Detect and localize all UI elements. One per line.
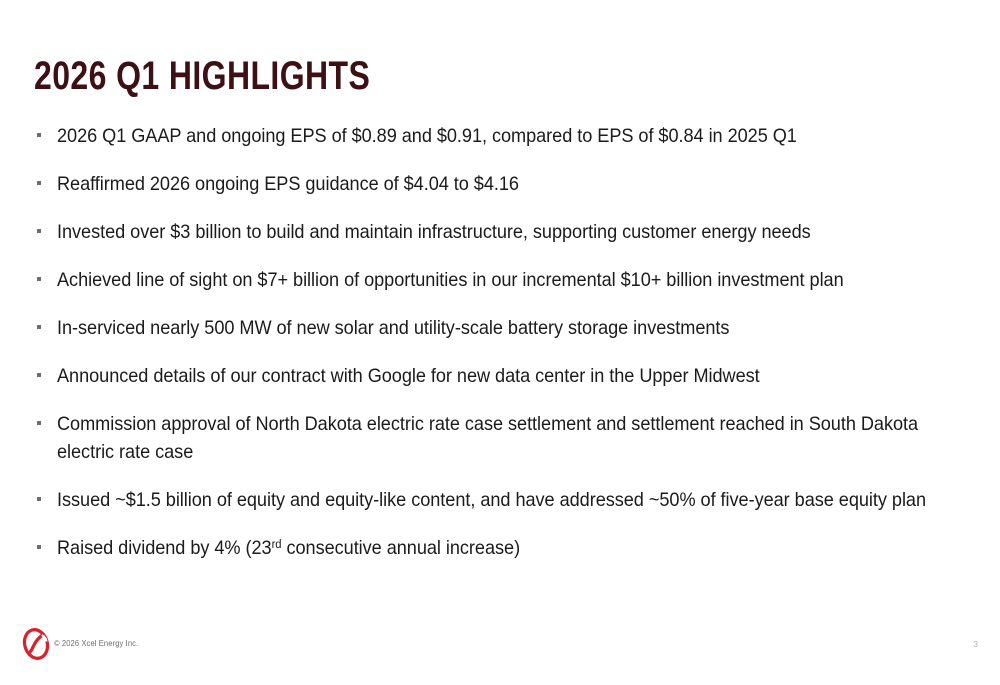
list-item-text: Commission approval of North Dakota elec… bbox=[57, 410, 944, 466]
list-item: Reaffirmed 2026 ongoing EPS guidance of … bbox=[34, 170, 944, 198]
copyright-text: © 2026 Xcel Energy Inc. bbox=[54, 639, 138, 648]
list-item-text: Issued ~$1.5 billion of equity and equit… bbox=[57, 486, 944, 514]
list-item: Commission approval of North Dakota elec… bbox=[34, 410, 944, 466]
list-item: Issued ~$1.5 billion of equity and equit… bbox=[34, 486, 944, 514]
list-item-text-post: consecutive annual increase) bbox=[281, 537, 520, 559]
list-item: Invested over $3 billion to build and ma… bbox=[34, 218, 944, 246]
ordinal-suffix: rd bbox=[272, 537, 282, 551]
bullet-marker-icon bbox=[37, 133, 41, 137]
presentation-slide: 2026 Q1 HIGHLIGHTS 2026 Q1 GAAP and ongo… bbox=[0, 0, 1000, 685]
page-title: 2026 Q1 HIGHLIGHTS bbox=[34, 53, 370, 99]
slide-footer: © 2026 Xcel Energy Inc. 3 bbox=[0, 623, 1000, 685]
bullet-marker-icon bbox=[37, 421, 41, 425]
list-item: In-serviced nearly 500 MW of new solar a… bbox=[34, 314, 944, 342]
list-item: Raised dividend by 4% (23rd consecutive … bbox=[34, 534, 944, 562]
bullet-marker-icon bbox=[37, 325, 41, 329]
list-item-text: In-serviced nearly 500 MW of new solar a… bbox=[57, 314, 944, 342]
list-item-text: Raised dividend by 4% (23rd consecutive … bbox=[57, 534, 944, 562]
bullet-marker-icon bbox=[37, 181, 41, 185]
bullet-marker-icon bbox=[37, 545, 41, 549]
page-number: 3 bbox=[973, 639, 978, 649]
xcel-energy-swirl-logo-icon bbox=[22, 628, 50, 660]
bullet-marker-icon bbox=[37, 373, 41, 377]
bullet-marker-icon bbox=[37, 497, 41, 501]
list-item-text: 2026 Q1 GAAP and ongoing EPS of $0.89 an… bbox=[57, 122, 944, 150]
bullet-marker-icon bbox=[37, 229, 41, 233]
list-item: Announced details of our contract with G… bbox=[34, 362, 944, 390]
list-item-text-pre: Raised dividend by 4% (23 bbox=[57, 537, 272, 559]
list-item-text: Invested over $3 billion to build and ma… bbox=[57, 218, 944, 246]
bullet-marker-icon bbox=[37, 277, 41, 281]
list-item-text: Achieved line of sight on $7+ billion of… bbox=[57, 266, 944, 294]
list-item: Achieved line of sight on $7+ billion of… bbox=[34, 266, 944, 294]
highlights-bullet-list: 2026 Q1 GAAP and ongoing EPS of $0.89 an… bbox=[34, 122, 944, 562]
list-item: 2026 Q1 GAAP and ongoing EPS of $0.89 an… bbox=[34, 122, 944, 150]
list-item-text: Announced details of our contract with G… bbox=[57, 362, 944, 390]
list-item-text: Reaffirmed 2026 ongoing EPS guidance of … bbox=[57, 170, 944, 198]
